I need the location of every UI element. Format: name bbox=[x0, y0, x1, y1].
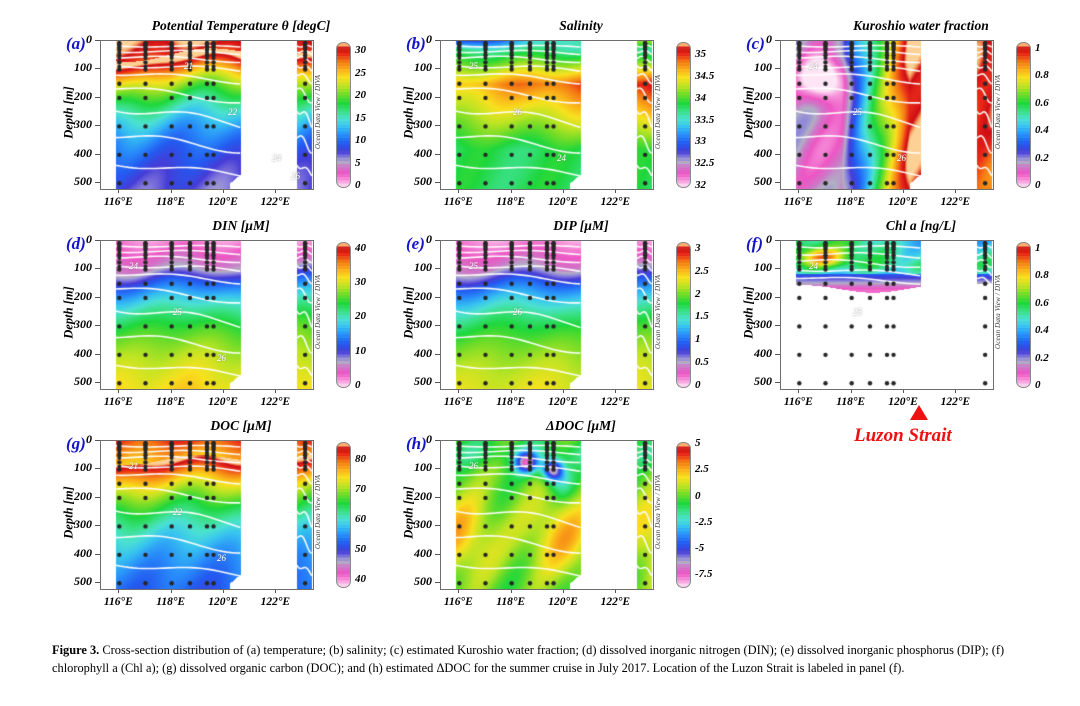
panel-d-xtick-116: 116°E bbox=[92, 396, 144, 408]
panel-a-ytick-500: 500 bbox=[58, 174, 92, 189]
panel-g-ytick-0: 0 bbox=[58, 432, 92, 447]
panel-d-odv-credit: Ocean Data View / DIVA bbox=[314, 252, 322, 372]
panel-c-plot-area: 242526 bbox=[780, 40, 994, 190]
panel-h-xtick-116: 116°E bbox=[432, 596, 484, 608]
panel-c-ytick-100: 100 bbox=[738, 60, 772, 75]
panel-c-odv-credit: Ocean Data View / DIVA bbox=[994, 52, 1002, 172]
panel-g-colorbar-tick: 60 bbox=[355, 513, 366, 525]
panel-b-xtick-118: 118°E bbox=[485, 196, 537, 208]
panel-b-ytick-300: 300 bbox=[398, 117, 432, 132]
panel-h-xtick-120: 120°E bbox=[537, 596, 589, 608]
panel-e-ytick-200: 200 bbox=[398, 289, 432, 304]
panel-f-colorbar-tick: 0.4 bbox=[1035, 324, 1049, 336]
panel-c-ytick-200: 200 bbox=[738, 89, 772, 104]
panel-h-ytick-500: 500 bbox=[398, 574, 432, 589]
panel-h-field-raster bbox=[441, 441, 653, 589]
panel-e-ytick-400: 400 bbox=[398, 346, 432, 361]
panel-e-colorbar-tick: 2.5 bbox=[695, 265, 709, 277]
panel-f-colorbar-tick: 0.6 bbox=[1035, 297, 1049, 309]
panel-a-ytick-400: 400 bbox=[58, 146, 92, 161]
panel-h-ytick-100: 100 bbox=[398, 460, 432, 475]
panel-b-plot-area: 252624 bbox=[440, 40, 654, 190]
panel-a-xtick-118: 118°E bbox=[145, 196, 197, 208]
panel-e-xtick-120: 120°E bbox=[537, 396, 589, 408]
panel-c-colorbar-tick: 1 bbox=[1035, 42, 1041, 54]
panel-d-colorbar-tick: 0 bbox=[355, 379, 361, 391]
panel-a-ytick-0: 0 bbox=[58, 32, 92, 47]
panel-f-colorbar-tick: 0 bbox=[1035, 379, 1041, 391]
panel-f-ytick-100: 100 bbox=[738, 260, 772, 275]
panel-d-xtick-122: 122°E bbox=[249, 396, 301, 408]
panel-g-colorbar-tick: 40 bbox=[355, 573, 366, 585]
panel-g-ytick-500: 500 bbox=[58, 574, 92, 589]
panel-h-odv-credit: Ocean Data View / DIVA bbox=[654, 452, 662, 572]
panel-h-colorbar-tick: -2.5 bbox=[695, 516, 712, 528]
panel-h-colorbar-tick: 5 bbox=[695, 437, 701, 449]
panel-e-xtick-116: 116°E bbox=[432, 396, 484, 408]
panel-a-xtick-122: 122°E bbox=[249, 196, 301, 208]
panel-d-field-raster bbox=[101, 241, 313, 389]
panel-a-odv-credit: Ocean Data View / DIVA bbox=[314, 52, 322, 172]
panel-e-colorbar bbox=[676, 242, 691, 388]
panel-b-colorbar-tick: 32.5 bbox=[695, 157, 714, 169]
panel-a-colorbar-tick: 15 bbox=[355, 112, 366, 124]
panel-e-colorbar-tick: 0 bbox=[695, 379, 701, 391]
panel-a-title: Potential Temperature θ [degC] bbox=[60, 18, 422, 34]
panel-b-colorbar-tick: 33 bbox=[695, 135, 706, 147]
luzon-strait-label: Luzon Strait bbox=[854, 425, 952, 447]
panel-c-ytick-0: 0 bbox=[738, 32, 772, 47]
panel-b-field-raster bbox=[441, 41, 653, 189]
panel-a-colorbar bbox=[336, 42, 351, 188]
panel-d-ytick-100: 100 bbox=[58, 260, 92, 275]
panel-h-ytick-0: 0 bbox=[398, 432, 432, 447]
panel-h-colorbar bbox=[676, 442, 691, 588]
panel-c-xtick-116: 116°E bbox=[772, 196, 824, 208]
panel-b-ytick-500: 500 bbox=[398, 174, 432, 189]
panel-g-xtick-116: 116°E bbox=[92, 596, 144, 608]
panel-b-ytick-200: 200 bbox=[398, 89, 432, 104]
panel-g-colorbar-tick: 80 bbox=[355, 453, 366, 465]
panel-f-colorbar-tick: 0.8 bbox=[1035, 269, 1049, 281]
panel-f-ytick-0: 0 bbox=[738, 232, 772, 247]
panel-c-xtick-122: 122°E bbox=[929, 196, 981, 208]
panel-e-colorbar-tick: 0.5 bbox=[695, 356, 709, 368]
panel-h-plot-area: 26 bbox=[440, 440, 654, 590]
figure-3-container: Potential Temperature θ [degC](a)Depth [… bbox=[0, 0, 1080, 706]
panel-a-colorbar-tick: 20 bbox=[355, 89, 366, 101]
panel-d-xtick-118: 118°E bbox=[145, 396, 197, 408]
panel-b-colorbar bbox=[676, 42, 691, 188]
panel-h-xtick-118: 118°E bbox=[485, 596, 537, 608]
panel-b-colorbar-tick: 32 bbox=[695, 179, 706, 191]
panel-b-colorbar-tick: 34 bbox=[695, 92, 706, 104]
panel-b-colorbar-tick: 34.5 bbox=[695, 70, 714, 82]
panel-e-ytick-100: 100 bbox=[398, 260, 432, 275]
panel-f-colorbar-tick: 1 bbox=[1035, 242, 1041, 254]
panel-d-title: DIN [μM] bbox=[60, 218, 422, 234]
caption-text-0: Cross-section distribution of (a) temper… bbox=[102, 643, 844, 657]
panel-a-xtick-120: 120°E bbox=[197, 196, 249, 208]
panel-g-xtick-118: 118°E bbox=[145, 596, 197, 608]
panel-b-odv-credit: Ocean Data View / DIVA bbox=[654, 52, 662, 172]
panel-b-ytick-100: 100 bbox=[398, 60, 432, 75]
caption-text-2: Location of the Luzon Strait is labeled … bbox=[653, 661, 905, 675]
panel-h-ytick-200: 200 bbox=[398, 489, 432, 504]
panel-d-colorbar-tick: 20 bbox=[355, 310, 366, 322]
panel-a-colorbar-tick: 30 bbox=[355, 44, 366, 56]
panel-d-colorbar bbox=[336, 242, 351, 388]
panel-g-xtick-122: 122°E bbox=[249, 596, 301, 608]
panel-a-plot-area: 21222426 bbox=[100, 40, 314, 190]
panel-h-colorbar-tick: -5 bbox=[695, 542, 704, 554]
panel-b-xtick-122: 122°E bbox=[589, 196, 641, 208]
panel-e-ytick-500: 500 bbox=[398, 374, 432, 389]
panel-e-colorbar-tick: 2 bbox=[695, 288, 701, 300]
panel-c-ytick-300: 300 bbox=[738, 117, 772, 132]
panel-b-colorbar-tick: 33.5 bbox=[695, 114, 714, 126]
panel-h-colorbar-tick: 2.5 bbox=[695, 463, 709, 475]
panel-a-colorbar-tick: 25 bbox=[355, 67, 366, 79]
panel-e-ytick-300: 300 bbox=[398, 317, 432, 332]
panel-g-ytick-400: 400 bbox=[58, 546, 92, 561]
panel-d-plot-area: 242526 bbox=[100, 240, 314, 390]
panel-e-ytick-0: 0 bbox=[398, 232, 432, 247]
panel-c-colorbar-tick: 0 bbox=[1035, 179, 1041, 191]
panel-d-ytick-300: 300 bbox=[58, 317, 92, 332]
panel-c-xtick-118: 118°E bbox=[825, 196, 877, 208]
panel-f-colorbar-tick: 0.2 bbox=[1035, 352, 1049, 364]
panel-c-colorbar-tick: 0.8 bbox=[1035, 69, 1049, 81]
panel-a-xtick-116: 116°E bbox=[92, 196, 144, 208]
panel-d-ytick-200: 200 bbox=[58, 289, 92, 304]
panel-g-ytick-200: 200 bbox=[58, 489, 92, 504]
panel-f-colorbar bbox=[1016, 242, 1031, 388]
panel-h-colorbar-tick: -7.5 bbox=[695, 568, 712, 580]
panel-c-colorbar bbox=[1016, 42, 1031, 188]
panel-d-ytick-400: 400 bbox=[58, 346, 92, 361]
panel-d-ytick-500: 500 bbox=[58, 374, 92, 389]
panel-h-title: ΔDOC [μM] bbox=[400, 418, 762, 434]
panel-h-ytick-400: 400 bbox=[398, 546, 432, 561]
panel-f-ytick-200: 200 bbox=[738, 289, 772, 304]
figure-number: Figure 3. bbox=[52, 643, 99, 657]
panel-b-ytick-0: 0 bbox=[398, 32, 432, 47]
panel-f-field-raster bbox=[781, 241, 993, 389]
panel-c-title: Kuroshio water fraction bbox=[740, 18, 1080, 34]
panel-h-colorbar-tick: 0 bbox=[695, 490, 701, 502]
panel-f-odv-credit: Ocean Data View / DIVA bbox=[994, 252, 1002, 372]
panel-b-colorbar-tick: 35 bbox=[695, 48, 706, 60]
panel-a-ytick-300: 300 bbox=[58, 117, 92, 132]
panel-c-xtick-120: 120°E bbox=[877, 196, 929, 208]
panel-d-colorbar-tick: 30 bbox=[355, 276, 366, 288]
panel-g-colorbar-tick: 50 bbox=[355, 543, 366, 555]
panel-e-plot-area: 2526 bbox=[440, 240, 654, 390]
panel-c-colorbar-tick: 0.6 bbox=[1035, 97, 1049, 109]
panel-g-colorbar bbox=[336, 442, 351, 588]
panel-a-colorbar-tick: 5 bbox=[355, 157, 361, 169]
panel-g-ytick-300: 300 bbox=[58, 517, 92, 532]
panel-f-ytick-400: 400 bbox=[738, 346, 772, 361]
panel-e-field-raster bbox=[441, 241, 653, 389]
panel-e-colorbar-tick: 1 bbox=[695, 333, 701, 345]
panel-d-ytick-0: 0 bbox=[58, 232, 92, 247]
panel-a-ytick-100: 100 bbox=[58, 60, 92, 75]
panel-h-xtick-122: 122°E bbox=[589, 596, 641, 608]
panel-b-xtick-120: 120°E bbox=[537, 196, 589, 208]
panel-a-field-raster bbox=[101, 41, 313, 189]
panel-f-ytick-300: 300 bbox=[738, 317, 772, 332]
panel-g-field-raster bbox=[101, 441, 313, 589]
panel-g-title: DOC [μM] bbox=[60, 418, 422, 434]
panel-e-colorbar-tick: 3 bbox=[695, 242, 701, 254]
panel-f-xtick-122: 122°E bbox=[929, 396, 981, 408]
panel-f-ytick-500: 500 bbox=[738, 374, 772, 389]
panel-h-ytick-300: 300 bbox=[398, 517, 432, 532]
panel-f-plot-area: 2425 bbox=[780, 240, 994, 390]
luzon-strait-marker-icon bbox=[910, 405, 928, 420]
panel-e-colorbar-tick: 1.5 bbox=[695, 310, 709, 322]
panel-c-field-raster bbox=[781, 41, 993, 189]
panel-b-title: Salinity bbox=[400, 18, 762, 34]
panel-f-xtick-118: 118°E bbox=[825, 396, 877, 408]
panel-b-ytick-400: 400 bbox=[398, 146, 432, 161]
panel-c-ytick-500: 500 bbox=[738, 174, 772, 189]
panel-f-xtick-116: 116°E bbox=[772, 396, 824, 408]
panel-c-colorbar-tick: 0.4 bbox=[1035, 124, 1049, 136]
panel-g-ytick-100: 100 bbox=[58, 460, 92, 475]
panel-e-title: DIP [μM] bbox=[400, 218, 762, 234]
panel-a-colorbar-tick: 10 bbox=[355, 134, 366, 146]
panel-c-ytick-400: 400 bbox=[738, 146, 772, 161]
panel-g-colorbar-tick: 70 bbox=[355, 483, 366, 495]
panel-d-colorbar-tick: 10 bbox=[355, 345, 366, 357]
panel-a-ytick-200: 200 bbox=[58, 89, 92, 104]
panel-b-xtick-116: 116°E bbox=[432, 196, 484, 208]
panel-g-plot-area: 212226 bbox=[100, 440, 314, 590]
panel-e-odv-credit: Ocean Data View / DIVA bbox=[654, 252, 662, 372]
panel-f-title: Chl a [ng/L] bbox=[740, 218, 1080, 234]
panel-e-xtick-122: 122°E bbox=[589, 396, 641, 408]
panel-d-colorbar-tick: 40 bbox=[355, 242, 366, 254]
panel-c-colorbar-tick: 0.2 bbox=[1035, 152, 1049, 164]
panel-a-colorbar-tick: 0 bbox=[355, 179, 361, 191]
figure-caption: Figure 3. Cross-section distribution of … bbox=[52, 641, 1032, 677]
panel-d-xtick-120: 120°E bbox=[197, 396, 249, 408]
panel-g-xtick-120: 120°E bbox=[197, 596, 249, 608]
panel-e-xtick-118: 118°E bbox=[485, 396, 537, 408]
panel-g-odv-credit: Ocean Data View / DIVA bbox=[314, 452, 322, 572]
